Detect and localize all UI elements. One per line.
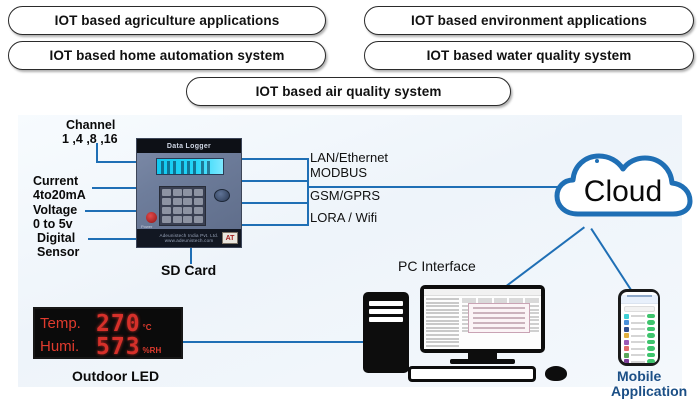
monitor-base: [450, 359, 515, 364]
cloud-label: Cloud: [552, 148, 694, 226]
output-bus-vertical: [307, 158, 309, 226]
screen-sidebar: [426, 298, 459, 348]
device-keypad[interactable]: [159, 186, 206, 226]
voltage-connector-line: [85, 210, 138, 212]
voltage-range: 0 to 5v: [33, 217, 73, 231]
list-item: [624, 333, 655, 338]
pill-home-automation[interactable]: IOT based home automation system: [8, 41, 326, 70]
led-humi-value: 573: [96, 336, 141, 358]
pill-water-quality-label: IOT based water quality system: [427, 48, 632, 63]
led-temp-label: Temp.: [40, 315, 96, 332]
outdoor-led-display: Temp. 270 °C Humi. 573 %RH: [33, 307, 183, 359]
device-brand-footer: Adeunistech India Pvt. Ltd. www.adeunist…: [137, 229, 241, 247]
pc-interface-caption: PC Interface: [398, 258, 476, 274]
channel-connector-line: [96, 161, 138, 163]
current-range: 4to20mA: [33, 188, 86, 202]
led-temp-unit: °C: [143, 323, 152, 335]
connectivity-lora-wifi: LORA / Wifi: [310, 210, 377, 225]
voltage-title: Voltage: [33, 203, 77, 217]
mobile-caption-line1: Mobile: [617, 368, 661, 384]
device-lcd-screen: [156, 158, 224, 175]
output-line-lan: [242, 158, 309, 160]
led-humidity-row: Humi. 573 %RH: [40, 335, 176, 358]
sd-card-label: SD Card: [161, 262, 216, 278]
iot-system-diagram: IOT based agriculture applications IOT b…: [0, 0, 700, 400]
output-line-gsm: [242, 202, 309, 204]
list-item: [624, 353, 655, 358]
pill-environment-label: IOT based environment applications: [411, 13, 647, 28]
cloud-node[interactable]: Cloud: [552, 148, 694, 226]
connectivity-modbus: MODBUS: [310, 165, 367, 180]
power-indicator-icon: [146, 212, 157, 223]
list-item: [624, 346, 655, 351]
digital-connector-line: [88, 238, 138, 240]
pill-home-automation-label: IOT based home automation system: [49, 48, 284, 63]
outdoor-led-caption: Outdoor LED: [72, 368, 159, 384]
list-item: [624, 340, 655, 345]
mobile-caption-line2: Application: [611, 383, 687, 399]
pill-water-quality[interactable]: IOT based water quality system: [364, 41, 694, 70]
pill-air-quality[interactable]: IOT based air quality system: [186, 77, 511, 106]
pill-air-quality-label: IOT based air quality system: [256, 84, 442, 99]
brand-line-2: www.adeunistech.com: [160, 238, 219, 243]
pill-agriculture-label: IOT based agriculture applications: [55, 13, 280, 28]
connectivity-lan-ethernet: LAN/Ethernet: [310, 150, 388, 165]
device-title: Data Logger: [137, 139, 241, 153]
channel-title: Channel: [66, 118, 115, 132]
device-knob-button[interactable]: [214, 189, 230, 202]
digital-title: Digital: [37, 231, 75, 245]
led-temp-value: 270: [96, 313, 141, 335]
monitor-screen: [424, 289, 541, 349]
pill-agriculture[interactable]: IOT based agriculture applications: [8, 6, 326, 35]
screen-dialog-overlay: [468, 303, 530, 333]
mobile-phone[interactable]: [618, 289, 660, 366]
output-line-modbus: [242, 180, 309, 182]
led-humi-label: Humi.: [40, 338, 96, 355]
digital-sensor-title: Sensor: [37, 245, 79, 259]
pc-mouse[interactable]: [545, 366, 567, 381]
list-item: [624, 314, 655, 319]
pc-monitor[interactable]: [420, 285, 545, 363]
led-humi-unit: %RH: [143, 346, 162, 358]
phone-screen: [621, 292, 658, 363]
channel-values: 1 ,4 ,8 ,16: [62, 132, 118, 146]
brand-logo-icon: AT: [222, 232, 238, 244]
led-to-pc-line: [183, 341, 363, 343]
phone-app-header: [621, 295, 658, 304]
channel-connector-vertical: [96, 143, 98, 163]
pc-tower[interactable]: [363, 292, 409, 373]
pc-keyboard[interactable]: [408, 366, 536, 382]
list-item: [624, 327, 655, 332]
monitor-bezel: [420, 285, 545, 353]
connectivity-gsm-gprs: GSM/GPRS: [310, 188, 380, 203]
data-logger-device[interactable]: Data Logger Power Adeunistech India Pvt.…: [136, 138, 242, 248]
output-line-lora: [242, 224, 309, 226]
current-title: Current: [33, 174, 78, 188]
led-temperature-row: Temp. 270 °C: [40, 312, 176, 335]
pill-environment[interactable]: IOT based environment applications: [364, 6, 694, 35]
list-item: [624, 320, 655, 325]
screen-toolbar: [424, 289, 541, 296]
current-connector-line: [92, 187, 138, 189]
list-item: [624, 359, 655, 363]
phone-search-field[interactable]: [624, 306, 655, 312]
